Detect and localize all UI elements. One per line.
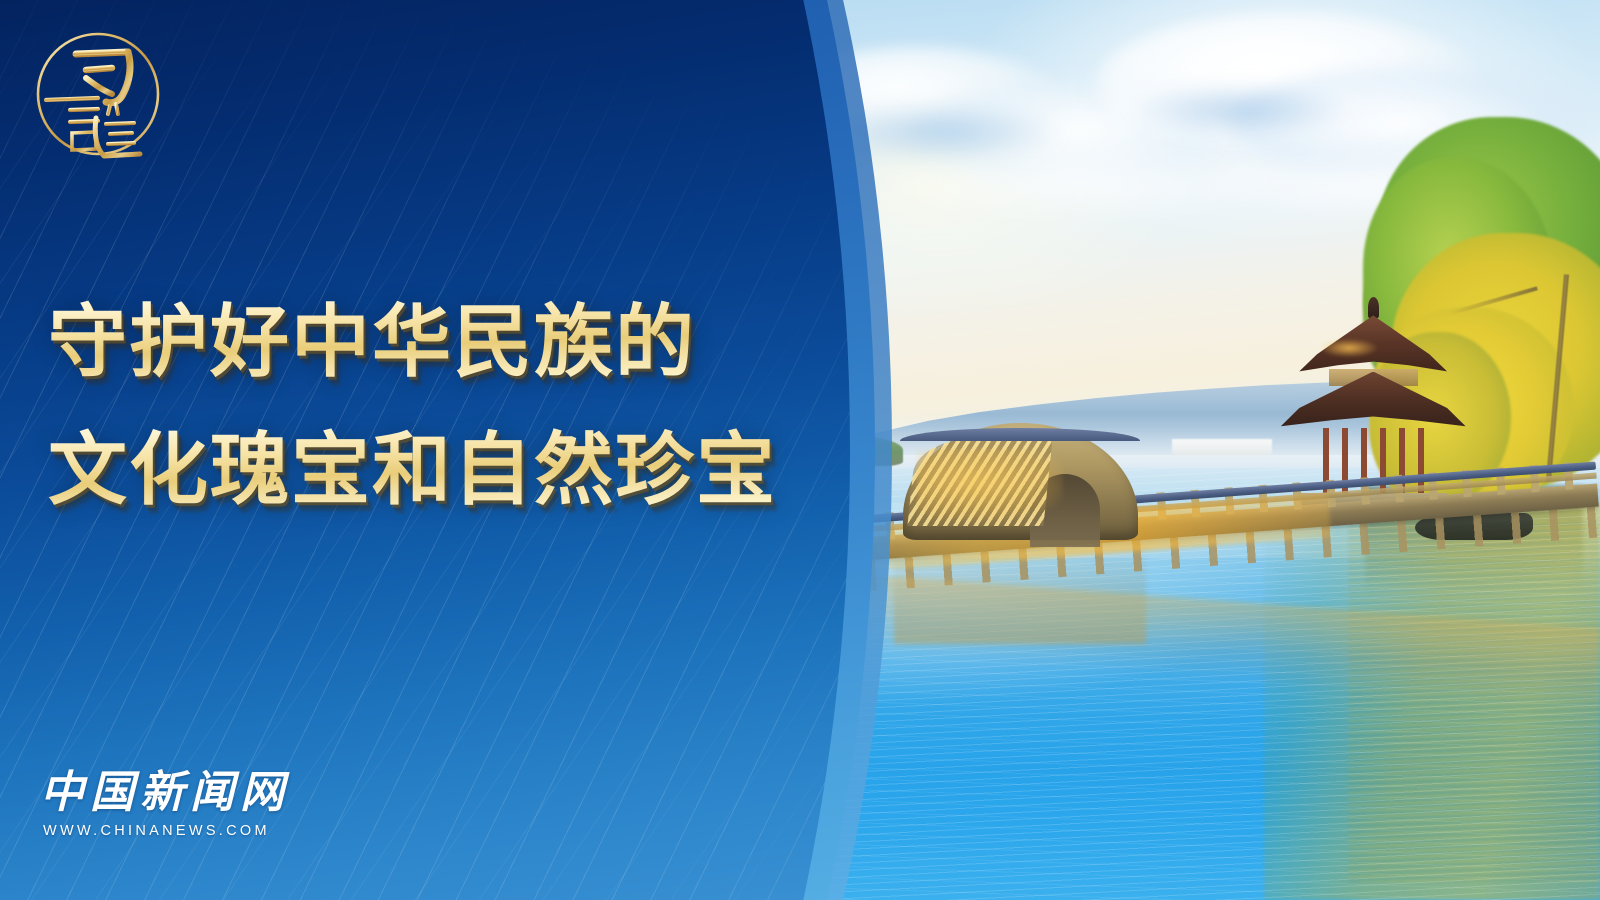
title-line-2: 文化瑰宝和自然珍宝 — [48, 416, 788, 524]
pavilion-finial — [1368, 297, 1379, 318]
pavilion-lower-roof — [1281, 372, 1466, 433]
page-title: 守护好中华民族的 文化瑰宝和自然珍宝 — [48, 288, 788, 524]
bridge-sunlight-glow — [917, 449, 1063, 522]
title-line-1: 守护好中华民族的 — [48, 288, 788, 396]
seal-char-xi — [76, 52, 130, 103]
seal-char-dao — [95, 104, 140, 156]
chinanews-logo[interactable]: 中国新闻网 WWW.CHINANEWS.COM — [40, 768, 300, 839]
poster-root: 守护好中华民族的 文化瑰宝和自然珍宝 中国新闻网 WWW.CHINANEWS.C… — [0, 0, 1600, 900]
bridge-railing — [900, 428, 1140, 441]
seal-char-yan — [46, 98, 98, 150]
pavilion-eave-highlight — [1321, 339, 1376, 358]
stone-arch-bridge — [903, 423, 1138, 540]
xi-yan-dao-seal-logo[interactable] — [24, 18, 172, 168]
chinanews-url: WWW.CHINANEWS.COM — [43, 823, 300, 839]
white-shore-building — [1172, 439, 1273, 455]
chinanews-brand-zh: 中国新闻网 — [40, 768, 300, 818]
